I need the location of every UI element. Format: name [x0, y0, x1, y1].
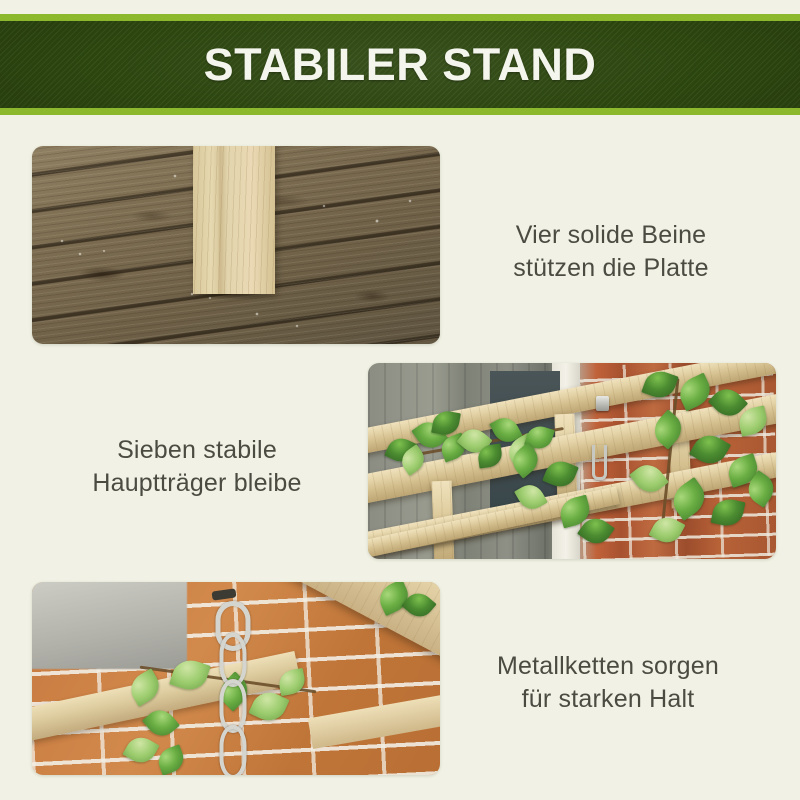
- caption-feature-beams: Sieben stabile Hauptträger bleibe: [46, 434, 348, 500]
- ivy-leaf: [508, 442, 545, 479]
- ivy-leaf: [125, 668, 164, 706]
- ivy-stem: [659, 378, 679, 539]
- metal-chain: [220, 597, 246, 775]
- photo-pergola-beams-with-ivy: [368, 363, 776, 559]
- header-banner-inner: STABILER STAND: [0, 21, 800, 108]
- header-banner: STABILER STAND: [0, 14, 800, 115]
- ivy-leaf: [514, 480, 548, 515]
- ivy-vine-center: [499, 441, 638, 551]
- ivy-leaf: [542, 457, 579, 492]
- ivy-leaf: [675, 373, 716, 412]
- ivy-leaf: [169, 655, 211, 694]
- ivy-leaf: [666, 477, 711, 521]
- ivy-leaf: [648, 409, 688, 449]
- ivy-leaf: [642, 366, 679, 402]
- ivy-leaf: [154, 745, 187, 775]
- caption-feature-legs: Vier solide Beine stützen die Platte: [460, 219, 762, 285]
- photo-metal-chain-hook-on-beam: [32, 582, 440, 775]
- ivy-leaf: [710, 496, 745, 529]
- ivy-leaf: [123, 732, 160, 769]
- infographic-page: STABILER STAND Vier solide Beine stützen…: [0, 0, 800, 800]
- ivy-vine-top-right: [375, 582, 440, 624]
- ivy-leaf: [689, 429, 731, 470]
- ivy-leaf: [737, 406, 770, 437]
- ivy-vine-bottom-left: [122, 733, 212, 775]
- ivy-leaf: [648, 512, 685, 548]
- caption-feature-chains: Metallketten sorgen für starken Halt: [452, 650, 764, 716]
- page-title: STABILER STAND: [0, 21, 800, 108]
- chain-link: [219, 725, 246, 775]
- deck-debris-specks: [32, 146, 440, 344]
- photo-wooden-post-leg-on-deck: [32, 146, 440, 344]
